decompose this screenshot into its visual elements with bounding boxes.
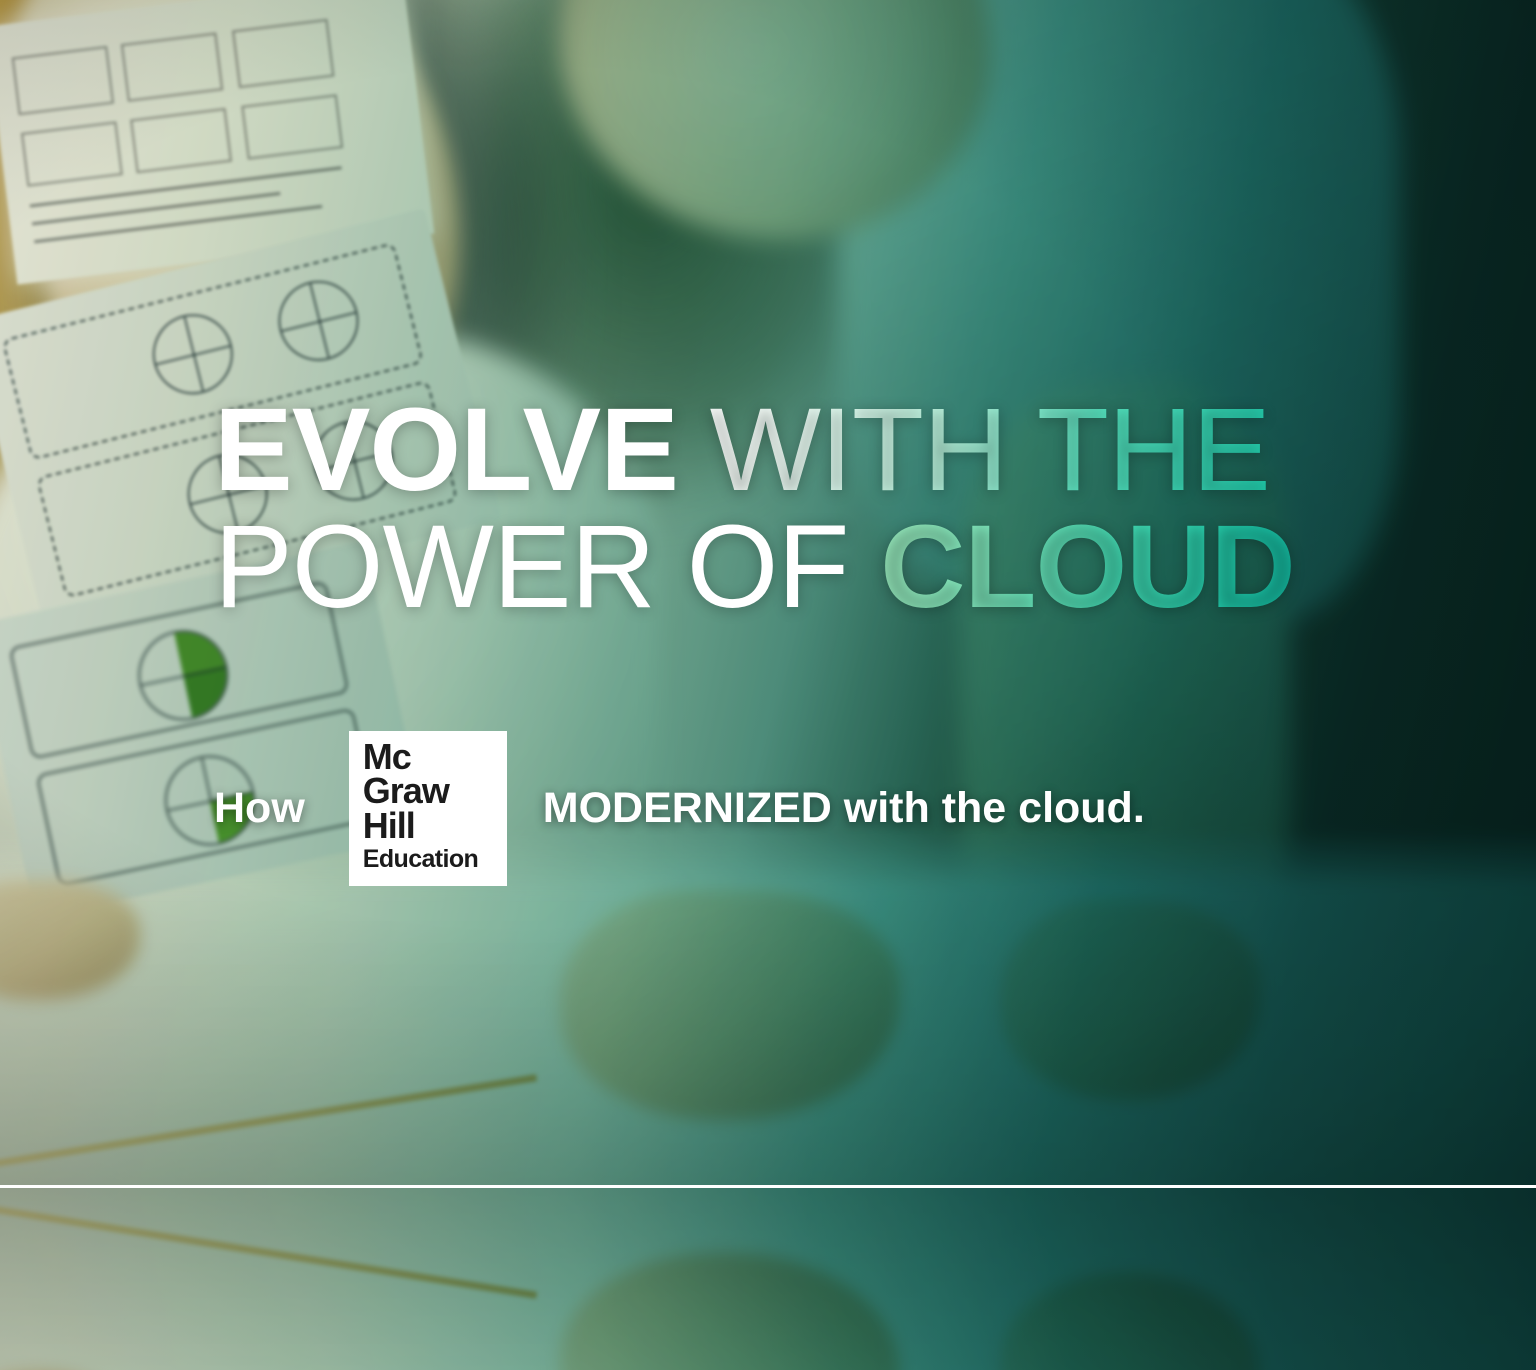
- horizontal-divider: [0, 1185, 1536, 1188]
- subtitle-tail: MODERNIZED with the cloud.: [543, 784, 1145, 833]
- logo-line-graw: Graw: [363, 774, 507, 809]
- headline-line-2: POWER OF CLOUD: [214, 509, 1414, 626]
- headline-line-1: EVOLVE WITH THE: [214, 392, 1414, 509]
- headline-cloud: CLOUD: [880, 501, 1295, 633]
- subtitle-row: How Mc Graw Hill Education MODERNIZED wi…: [214, 728, 1145, 888]
- mcgraw-hill-education-logo: Mc Graw Hill Education: [349, 731, 507, 886]
- subtitle-lead: How: [214, 784, 305, 833]
- background-photo-reflection: [0, 1188, 1536, 1370]
- headline-power-of: POWER OF: [214, 501, 880, 633]
- logo-line-mc: Mc: [363, 740, 507, 775]
- headline-evolve: EVOLVE: [214, 384, 678, 516]
- logo-line-education: Education: [363, 846, 507, 872]
- logo-line-hill: Hill: [363, 809, 507, 844]
- promo-banner: EVOLVE WITH THE POWER OF CLOUD How Mc Gr…: [0, 0, 1536, 1370]
- headline-with-the: WITH THE: [678, 384, 1270, 516]
- page-title: EVOLVE WITH THE POWER OF CLOUD: [214, 392, 1414, 626]
- headline-block: EVOLVE WITH THE POWER OF CLOUD: [214, 392, 1414, 626]
